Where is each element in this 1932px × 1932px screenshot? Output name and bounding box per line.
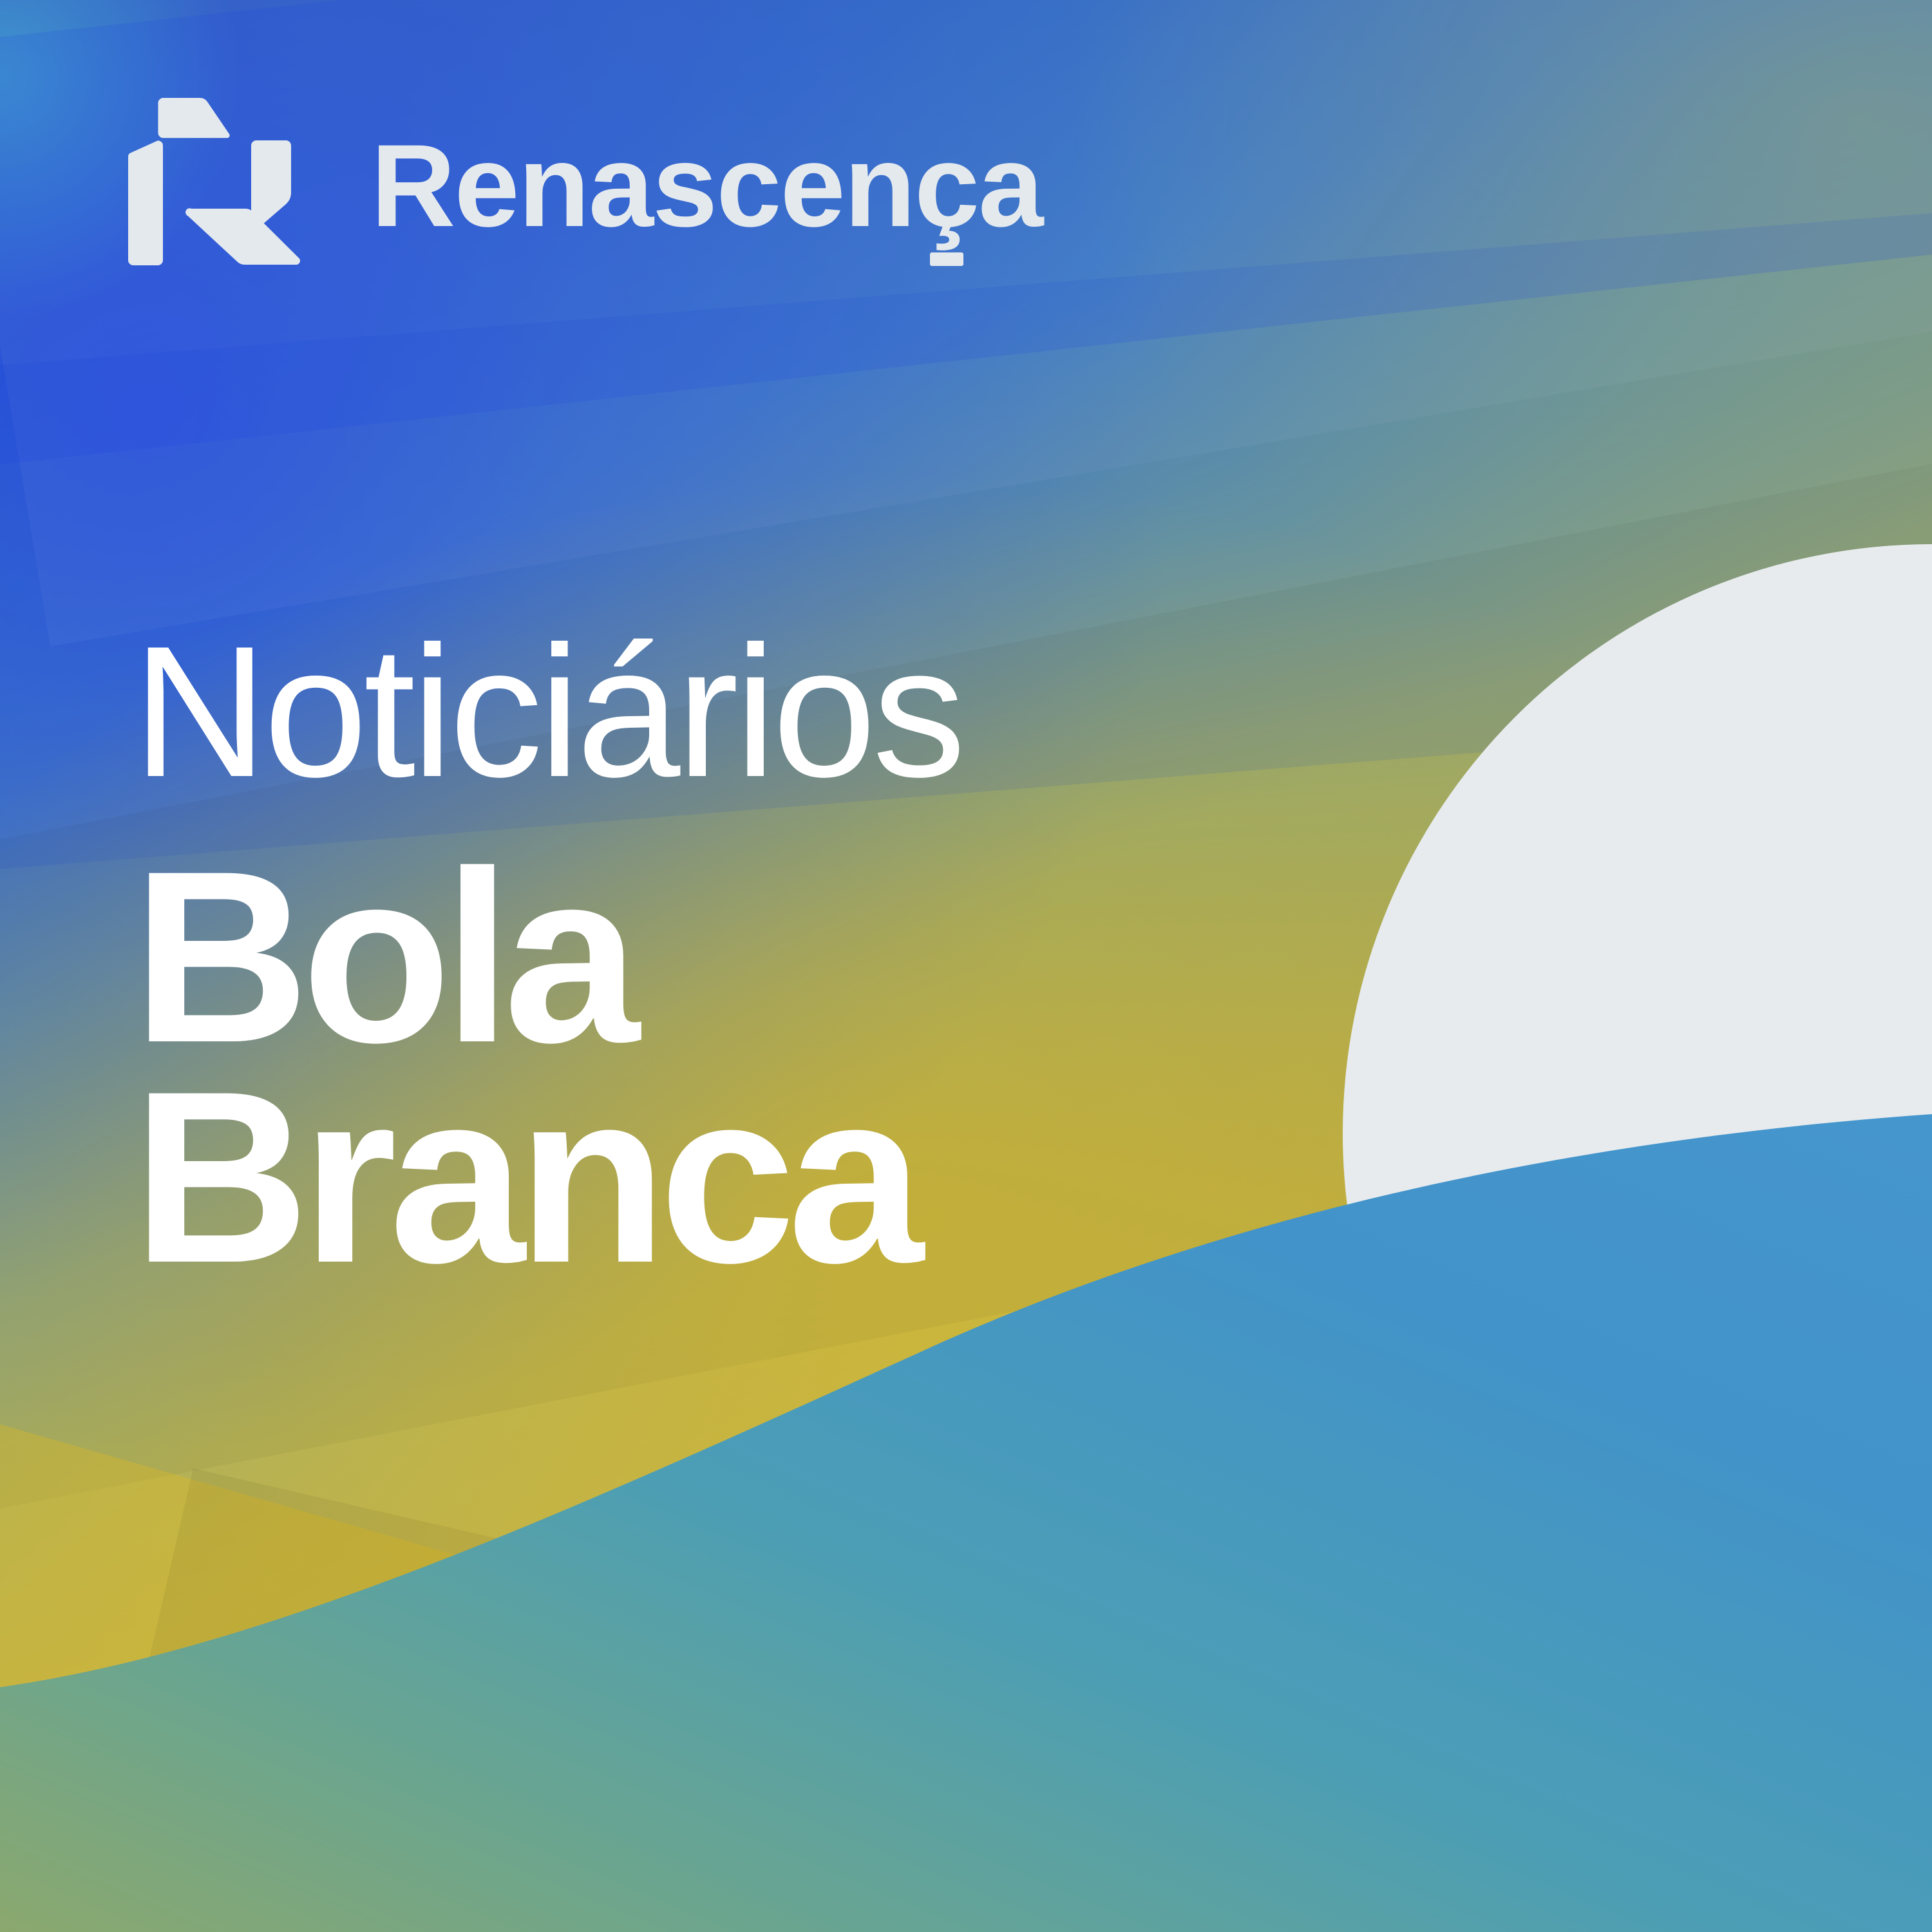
title-kicker: Noticiários [133, 618, 962, 805]
brand-wordmark-part1: Renascen [371, 120, 914, 251]
brand-wordmark-part3: a [978, 120, 1042, 251]
title-headline: Bola Branca [133, 836, 962, 1298]
podcast-cover-artwork: Renascença Noticiários Bola Branca [0, 0, 1932, 1932]
brand-wordmark-cedilla: ç [914, 127, 978, 244]
title-headline-line2: Branca [133, 1056, 962, 1298]
brand-lockup: Renascença [128, 94, 1042, 269]
title-block: Noticiários Bola Branca [133, 618, 962, 1298]
brand-wordmark: Renascença [371, 127, 1042, 244]
renascenca-r-mark-icon [128, 94, 303, 269]
